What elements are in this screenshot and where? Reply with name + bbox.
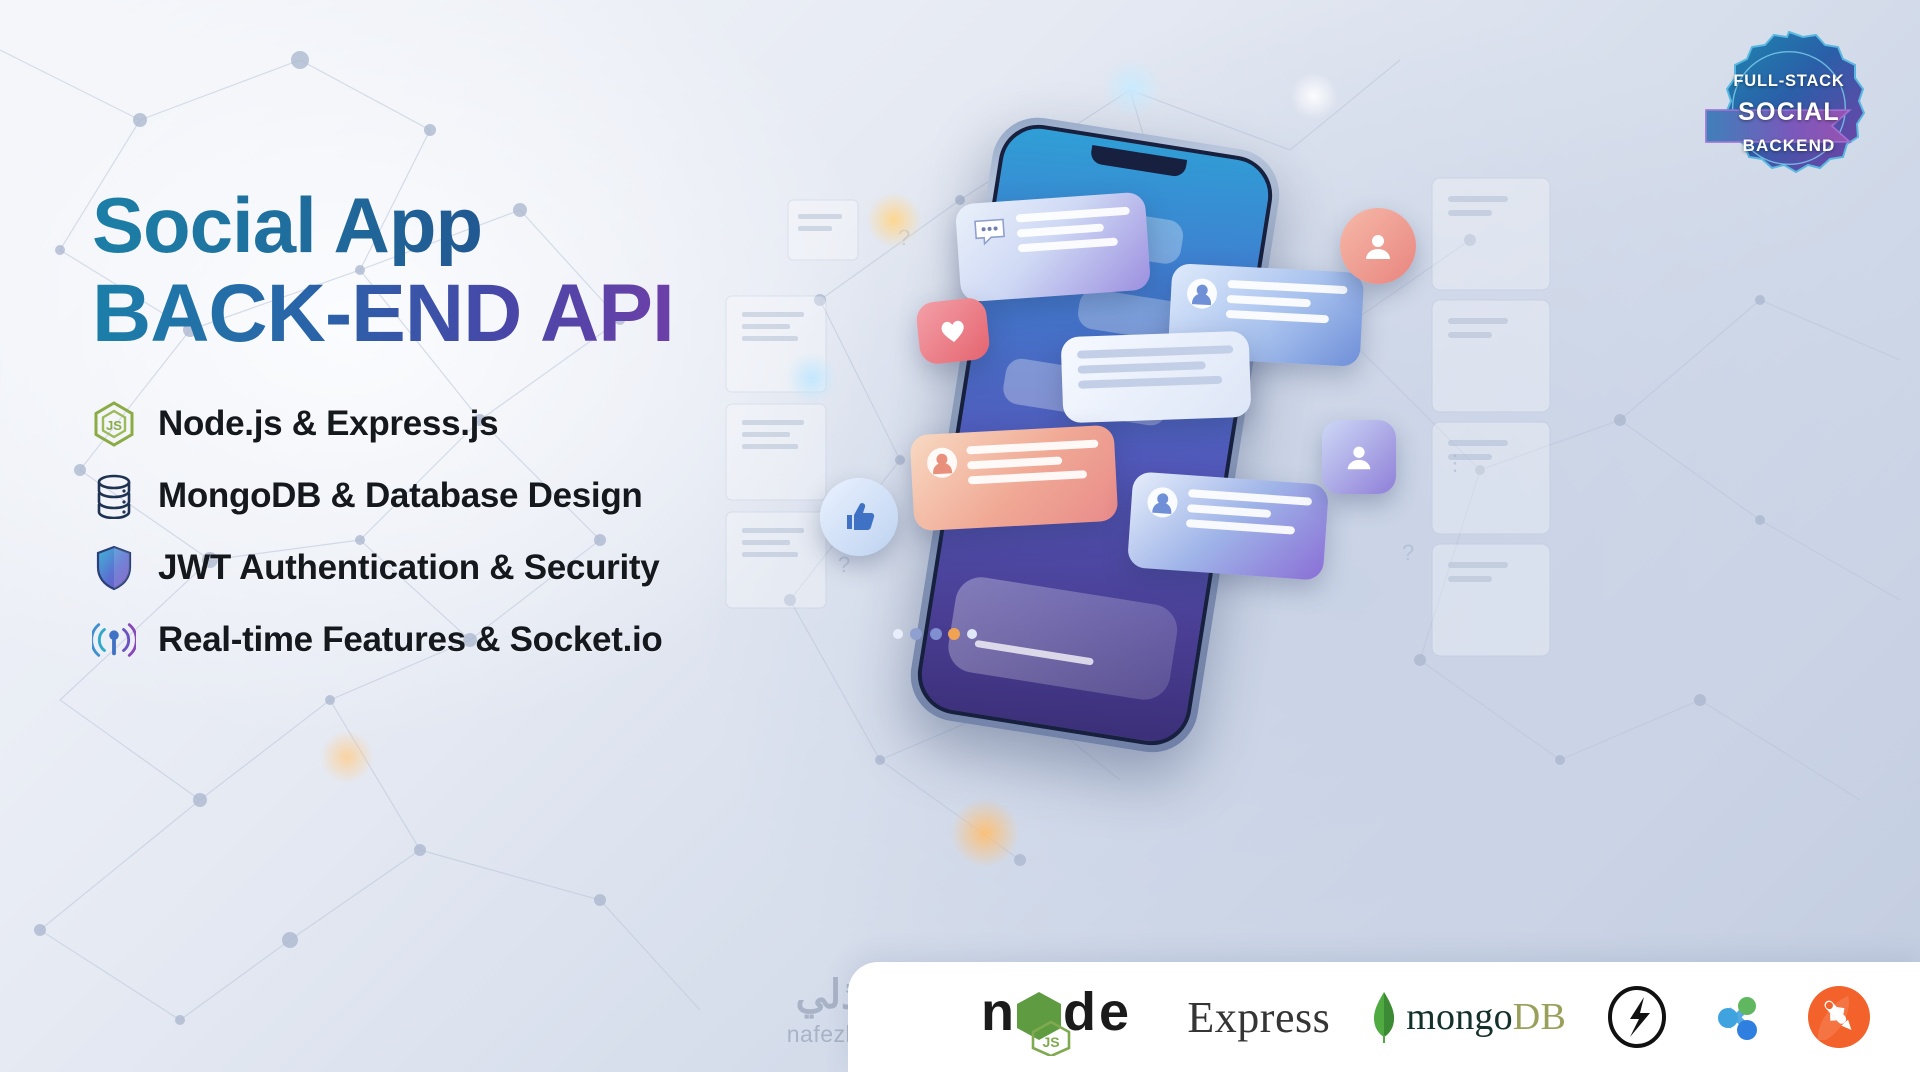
phone-illustration [800, 60, 1560, 860]
badge-main-label: SOCIAL [1700, 98, 1878, 127]
mongodb-label-b: DB [1513, 996, 1566, 1038]
reaction-bubble-heart [915, 297, 991, 366]
phone-notch [1090, 145, 1188, 178]
express-logo: Express [1187, 992, 1330, 1043]
feature-item-nodejs: JS Node.js & Express.js [92, 401, 852, 447]
shield-icon [92, 545, 136, 591]
svg-text:JS: JS [106, 418, 122, 433]
svg-text:JS: JS [1043, 1034, 1060, 1050]
typing-dots-icon [890, 625, 980, 643]
broadcast-signal-icon [92, 617, 136, 663]
avatar [1186, 278, 1218, 310]
feature-label: MongoDB & Database Design [158, 476, 643, 516]
avatar [926, 447, 958, 479]
mongodb-label-a: mongo [1406, 996, 1513, 1038]
avatar [1146, 486, 1178, 518]
page-title-line2: BACK-END API [92, 272, 852, 356]
database-icon [92, 473, 136, 519]
svg-text:n: n [981, 982, 1013, 1042]
status-badge: FULL-STACK SOCIAL BACKEND [1700, 22, 1878, 190]
reaction-thumbs-up [820, 478, 898, 556]
feature-list: JS Node.js & Express.js [92, 401, 852, 663]
badge-top-label: FULL-STACK [1700, 72, 1878, 91]
user-icon [1343, 441, 1375, 473]
avatar-chip [1322, 420, 1396, 494]
chat-bubble-message [1127, 471, 1329, 580]
promo-banner: ? ? ? ⋮ Social App BACK-END API JS [0, 0, 1920, 1072]
svg-text:e: e [1099, 982, 1128, 1042]
feature-label: JWT Authentication & Security [158, 548, 659, 588]
feature-item-jwt: JWT Authentication & Security [92, 545, 852, 591]
mongodb-logo: mongoDB [1370, 990, 1566, 1044]
heart-icon [938, 317, 969, 346]
badge-bottom-label: BACKEND [1700, 136, 1878, 156]
screen-input-bar [945, 574, 1181, 704]
tech-logo-bar: n d e JS Express mongoDB [848, 962, 1920, 1072]
jwt-logo [1708, 988, 1766, 1046]
nodejs-hexagon-icon: JS [92, 401, 136, 447]
chat-bubble-typing [955, 191, 1151, 302]
chat-icon [972, 215, 1008, 247]
feature-item-realtime: Real-time Features & Socket.io [92, 617, 852, 663]
headline-block: Social App BACK-END API JS Node.js & Exp… [92, 186, 852, 663]
socketio-logo [1606, 985, 1668, 1049]
page-title-line1: Social App [92, 186, 852, 266]
nodejs-logo: n d e JS [979, 978, 1147, 1056]
feature-label: Node.js & Express.js [158, 404, 498, 444]
user-icon [1361, 229, 1395, 263]
feature-label: Real-time Features & Socket.io [158, 620, 663, 660]
mongodb-leaf-icon [1370, 990, 1398, 1044]
postman-logo [1806, 984, 1872, 1050]
avatar-chip [1340, 208, 1416, 284]
chat-bubble-message [910, 425, 1119, 532]
chat-bubble-message [1061, 331, 1252, 424]
feature-item-mongodb: MongoDB & Database Design [92, 473, 852, 519]
thumbs-up-icon [840, 498, 878, 536]
